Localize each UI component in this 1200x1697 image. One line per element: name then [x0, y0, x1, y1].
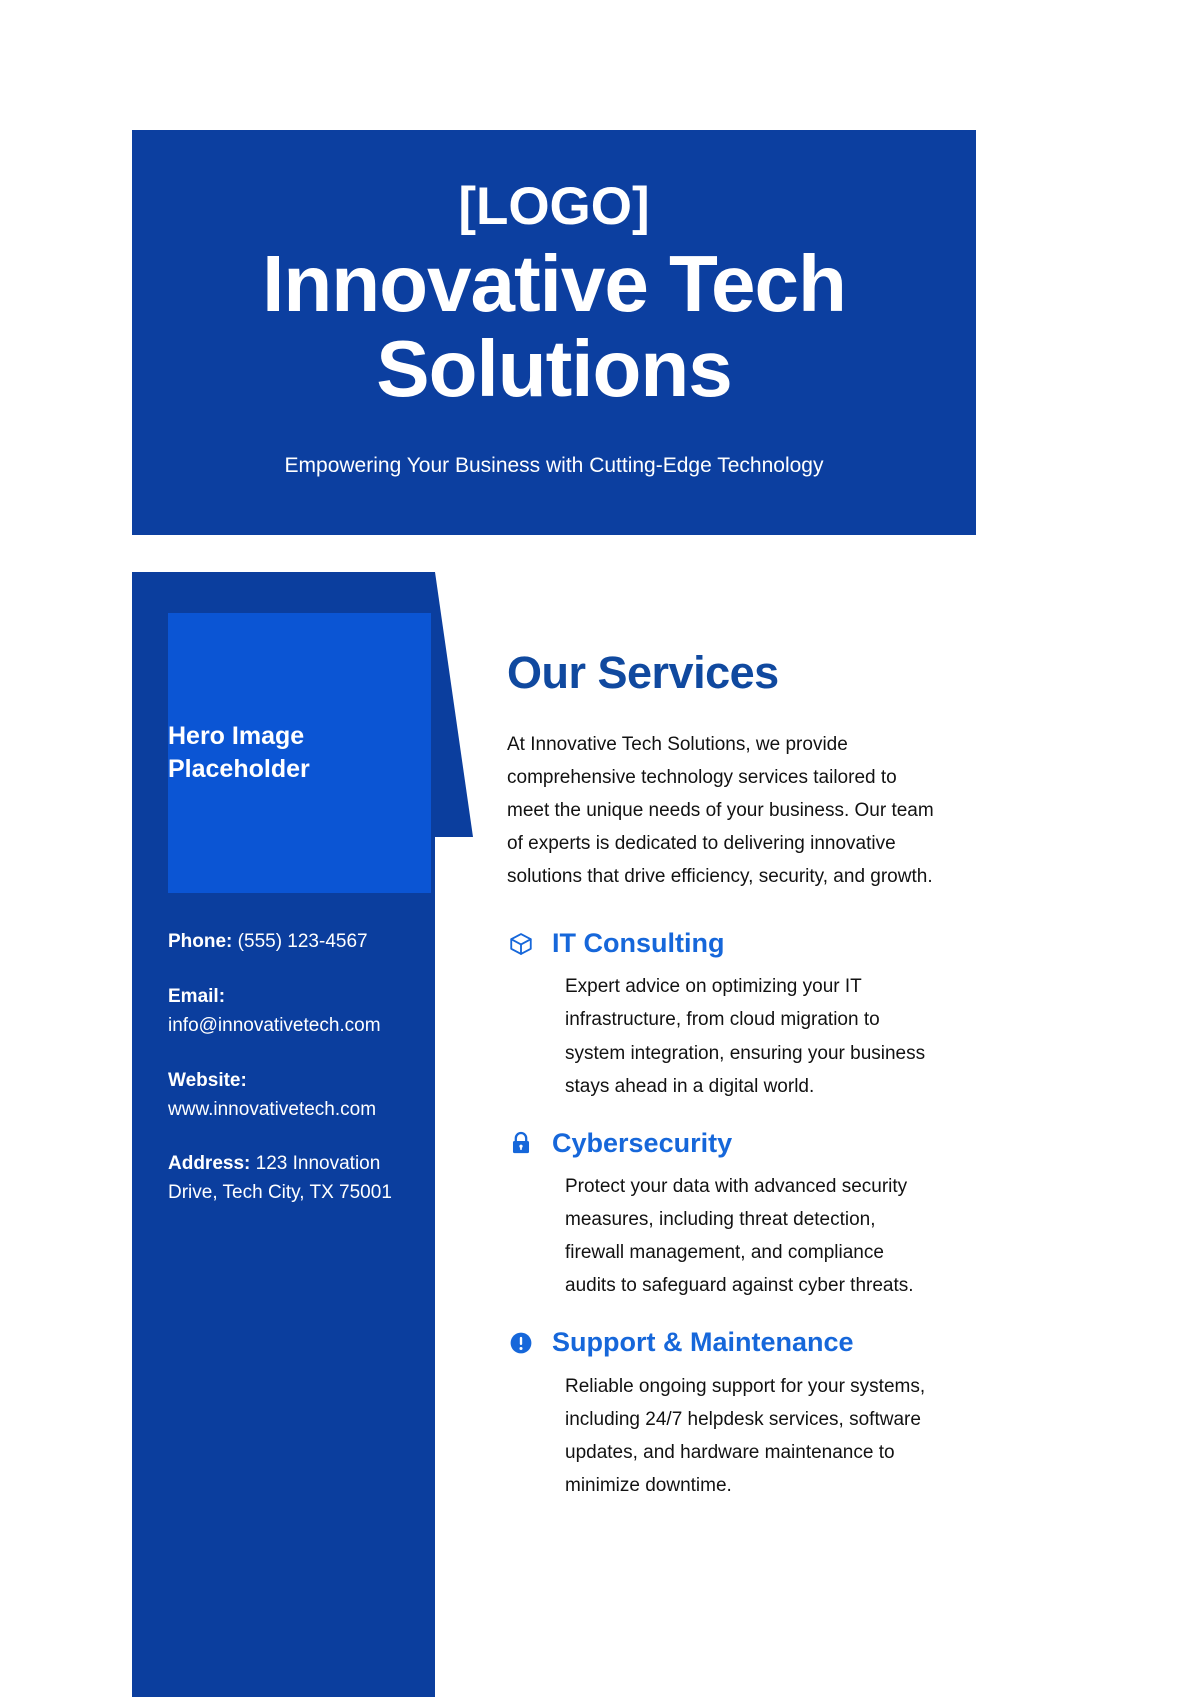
sidebar-wedge-shape: [435, 572, 475, 837]
service-item-support-maintenance: Support & Maintenance Reliable ongoing s…: [507, 1328, 937, 1502]
contact-item-phone: Phone: (555) 123-4567: [168, 928, 423, 957]
contact-value-email[interactable]: info@innovativetech.com: [168, 1015, 381, 1036]
hero-image-placeholder-label: Hero Image Placeholder: [168, 720, 431, 786]
cube-icon: [507, 930, 534, 957]
tagline: Empowering Your Business with Cutting-Ed…: [172, 452, 936, 479]
contact-item-website: Website: www.innovativetech.com: [168, 1067, 423, 1125]
service-description-cybersecurity: Protect your data with advanced security…: [507, 1170, 937, 1302]
service-description-it-consulting: Expert advice on optimizing your IT infr…: [507, 970, 937, 1102]
service-description-support-maintenance: Reliable ongoing support for your system…: [507, 1370, 937, 1502]
service-name-it-consulting: IT Consulting: [552, 929, 724, 959]
alert-circle-icon: [507, 1330, 534, 1357]
company-name: Innovative Tech Solutions: [172, 242, 936, 412]
service-name-cybersecurity: Cybersecurity: [552, 1129, 732, 1159]
contact-label-phone: Phone:: [168, 931, 232, 952]
service-name-support-maintenance: Support & Maintenance: [552, 1328, 854, 1358]
brochure-page: [LOGO] Innovative Tech Solutions Empower…: [0, 0, 1200, 1697]
contact-details: Phone: (555) 123-4567 Email: info@innova…: [168, 928, 423, 1208]
contact-item-address: Address: 123 Innovation Drive, Tech City…: [168, 1150, 423, 1208]
page-title: Our Services: [507, 648, 937, 698]
contact-label-address: Address:: [168, 1153, 250, 1174]
service-header-it-consulting: IT Consulting: [507, 929, 937, 959]
contact-item-email: Email: info@innovativetech.com: [168, 983, 423, 1041]
contact-label-email: Email:: [168, 986, 225, 1007]
service-item-it-consulting: IT Consulting Expert advice on optimizin…: [507, 929, 937, 1103]
services-intro-paragraph: At Innovative Tech Solutions, we provide…: [507, 728, 937, 893]
logo-placeholder: [LOGO]: [172, 178, 936, 236]
lock-icon: [507, 1130, 534, 1157]
service-item-cybersecurity: Cybersecurity Protect your data with adv…: [507, 1129, 937, 1303]
contact-label-website: Website:: [168, 1070, 247, 1091]
service-header-support-maintenance: Support & Maintenance: [507, 1328, 937, 1358]
contact-value-phone: (555) 123-4567: [232, 931, 367, 952]
service-header-cybersecurity: Cybersecurity: [507, 1129, 937, 1159]
header-banner: [LOGO] Innovative Tech Solutions Empower…: [132, 130, 976, 535]
services-section: Our Services At Innovative Tech Solution…: [507, 648, 937, 1528]
hero-image-placeholder: Hero Image Placeholder: [168, 613, 431, 893]
contact-value-website[interactable]: www.innovativetech.com: [168, 1099, 376, 1120]
